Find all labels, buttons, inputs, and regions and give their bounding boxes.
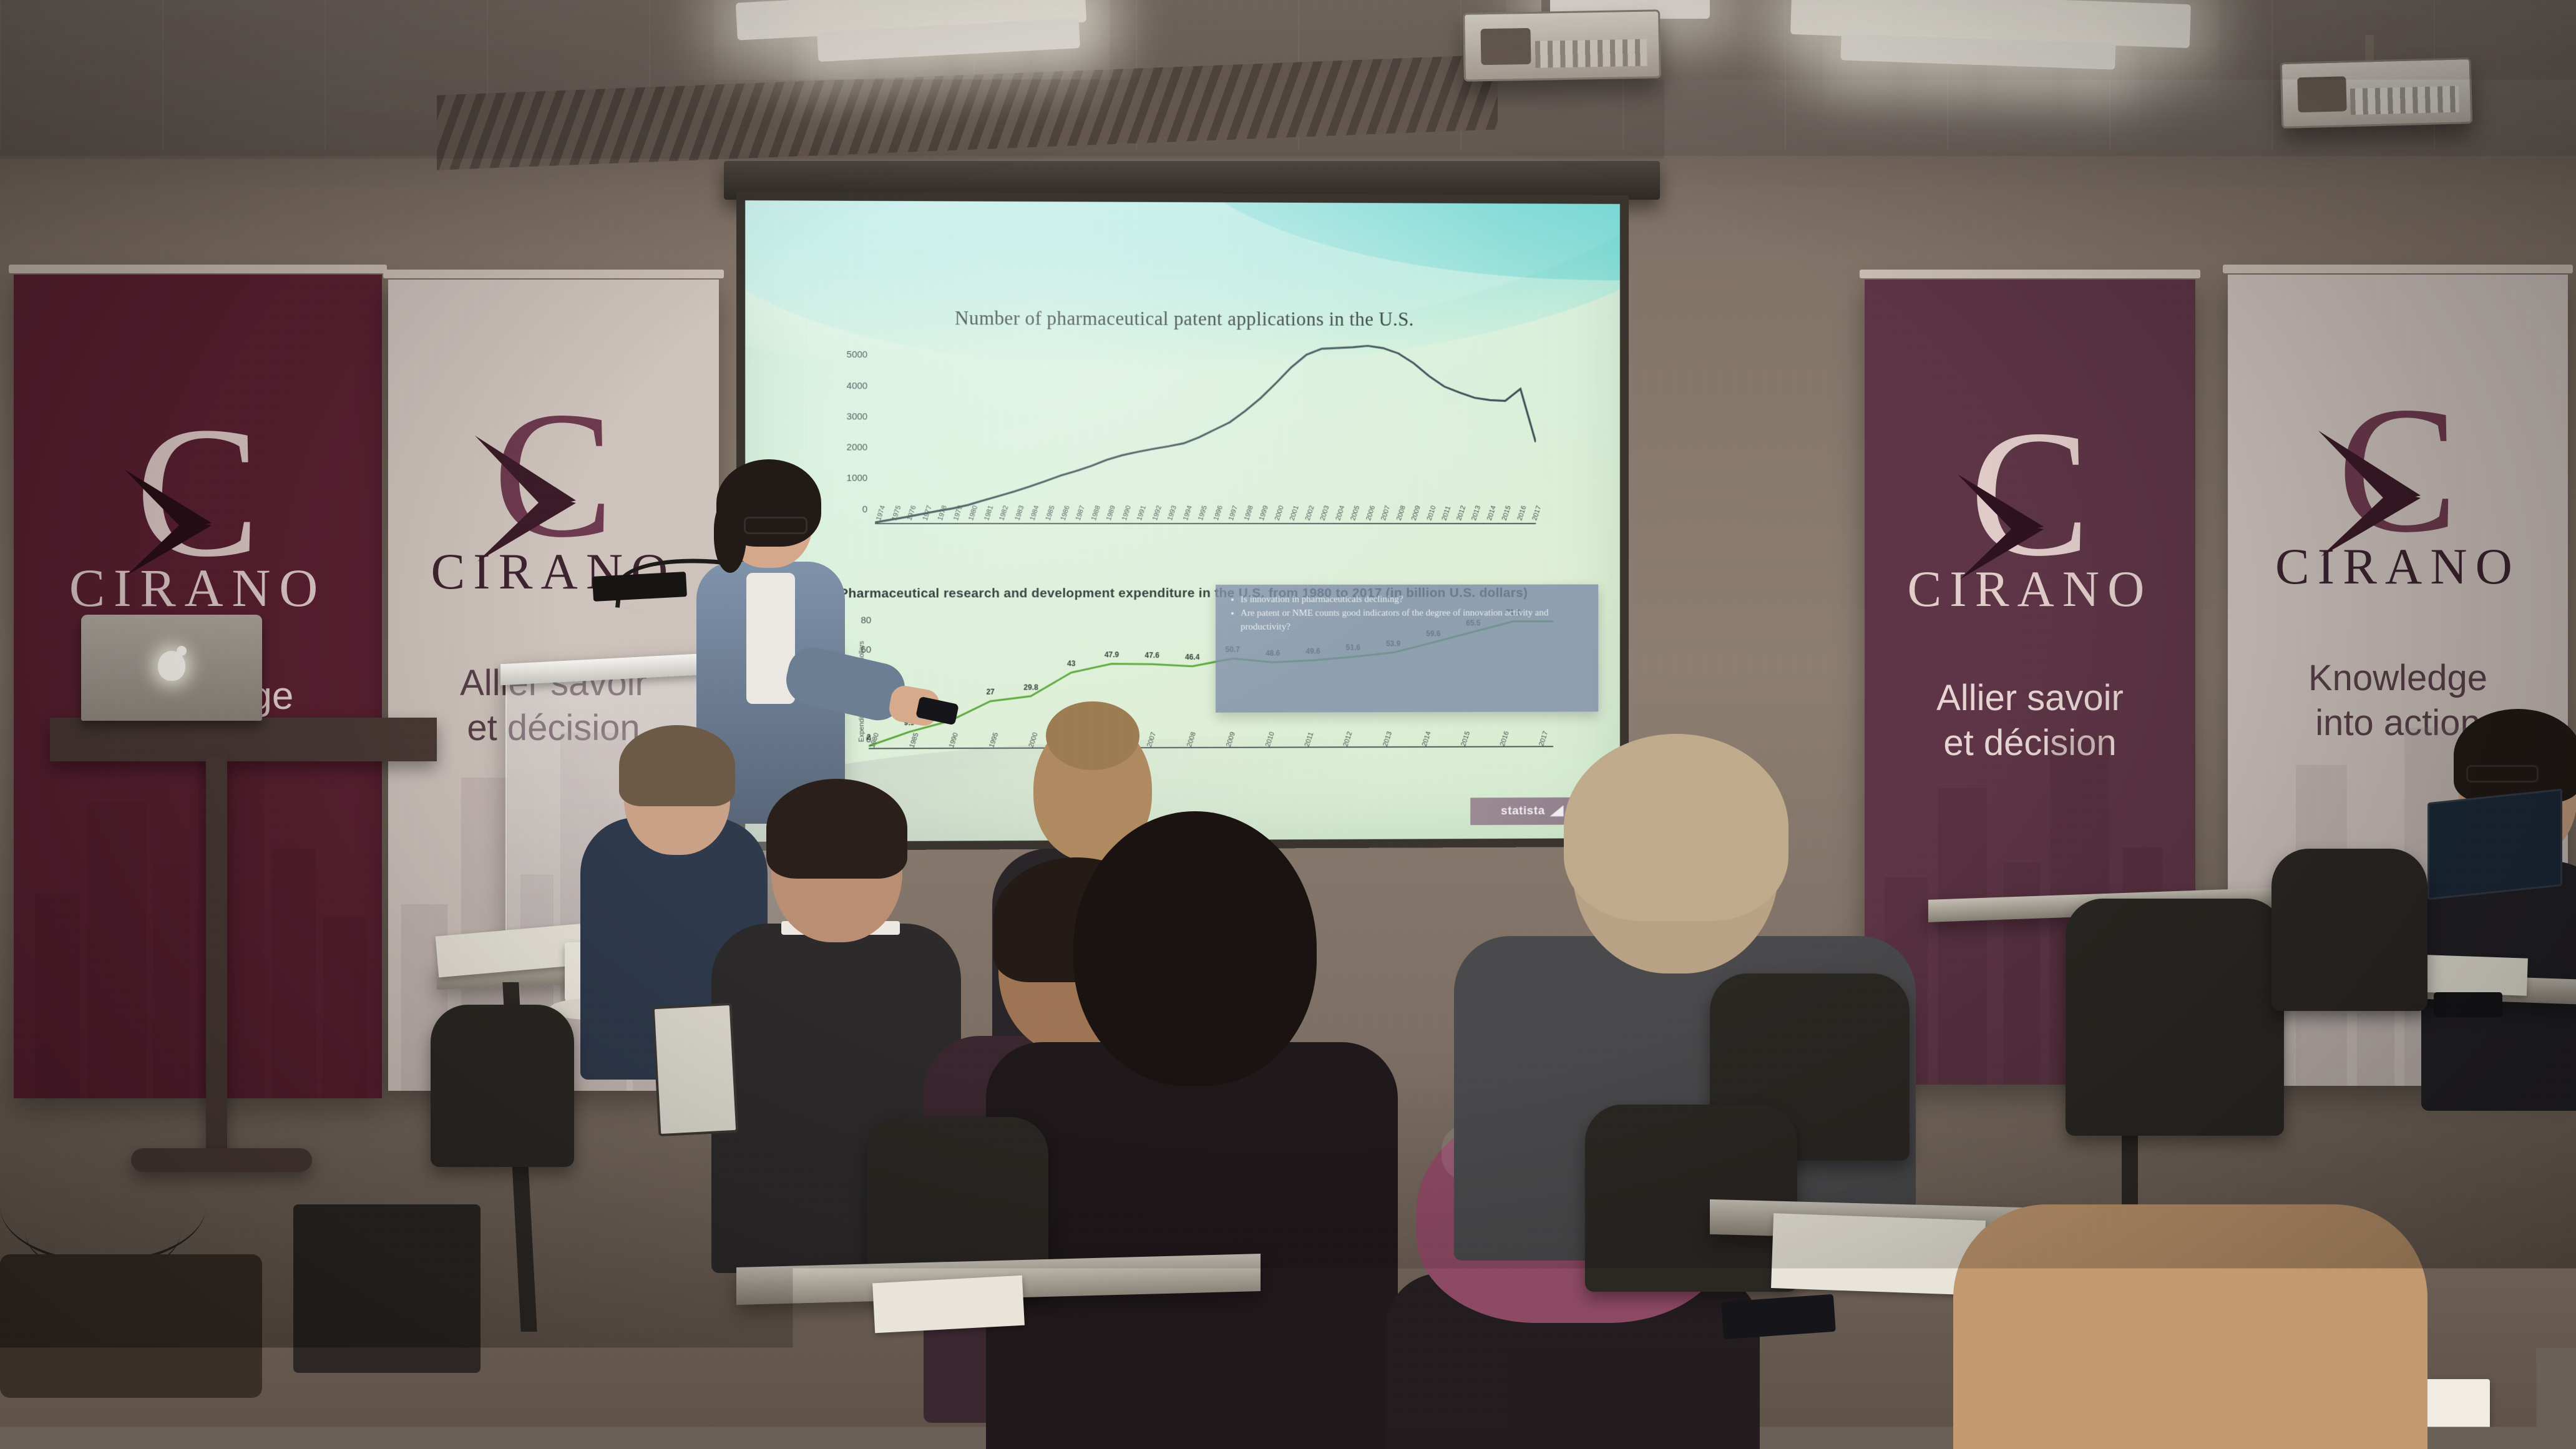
presenter-laptop: [81, 615, 262, 721]
projector-lens: [2297, 76, 2346, 112]
document-paper: [872, 1276, 1025, 1333]
eyeglasses-icon: [744, 517, 807, 534]
y-tick-label: 3000: [847, 411, 868, 422]
cirano-c-logo: C: [2228, 387, 2568, 554]
audience-hair: [1564, 734, 1788, 921]
chair: [431, 1005, 574, 1167]
skyline-graphic: [14, 720, 382, 1098]
data-point-label: 46.4: [1185, 653, 1199, 661]
chair: [2271, 849, 2427, 1011]
cirano-c-logo: C: [14, 406, 382, 578]
y-tick-label: 4000: [847, 380, 868, 391]
data-point-label: 29.8: [1023, 683, 1038, 691]
y-tick-label: 0: [862, 504, 867, 514]
data-point-label: 43: [1067, 659, 1075, 668]
smartphone: [1721, 1294, 1836, 1339]
audience-torso: [1953, 1204, 2427, 1449]
chart1-line-series: [875, 335, 1536, 524]
data-point-label: 27: [986, 688, 994, 696]
cirano-c-logo: C: [388, 392, 719, 559]
floor-bag: [0, 1254, 262, 1398]
banner-tagline-line1: Knowledge: [2228, 656, 2568, 701]
eyeglasses-icon: [2466, 765, 2539, 783]
slide-callout-box: Is innovation in pharmaceuticals declini…: [1216, 585, 1598, 713]
audience-head: [1073, 811, 1317, 1086]
callout-bullet: Are patent or NME counts good indicators…: [1241, 607, 1587, 634]
microphone-base: [592, 572, 687, 602]
chart1-plot: 010002000300040005000 197419751976197719…: [825, 335, 1542, 549]
banner-rail: [1860, 270, 2200, 278]
ceiling-projector-icon: [1463, 9, 1661, 81]
side-table-stem: [206, 755, 227, 1154]
chart1-title: Number of pharmaceutical patent applicat…: [745, 306, 1620, 331]
audience-member-foreground: [986, 793, 1398, 1449]
smartphone: [2434, 992, 2502, 1017]
equipment-case: [293, 1204, 481, 1373]
chart1-plot-area: [875, 335, 1536, 524]
conference-room-photo: C CIRANO Knowledge into action C: [0, 0, 2576, 1449]
callout-bullet: Is innovation in pharmaceuticals declini…: [1241, 593, 1587, 607]
chair: [2066, 899, 2284, 1136]
projector-lens: [1480, 28, 1531, 66]
data-point-label: 47.9: [1105, 650, 1119, 659]
y-tick-label: 1000: [847, 472, 868, 483]
chart1-x-labels: 1974197519761977197819791980198119821983…: [875, 519, 1536, 554]
audience-hair-bun: [1046, 701, 1139, 770]
projector-ports: [1534, 39, 1647, 68]
audience-member-foreground: [1953, 1179, 2427, 1449]
attendee-laptop: [2427, 789, 2562, 900]
banner-rail: [9, 265, 387, 273]
projector-ports: [2350, 86, 2459, 115]
banner-rail: [2223, 265, 2573, 273]
chair: [1585, 1105, 1797, 1292]
y-tick-label: 2000: [847, 442, 868, 452]
banner-rail: [383, 270, 724, 278]
side-table: [50, 718, 437, 761]
audience-hair: [766, 779, 907, 879]
y-tick-label: 5000: [847, 349, 868, 360]
cirano-c-logo: C: [1865, 411, 2195, 577]
chart-patent-applications: Number of pharmaceutical patent applicat…: [745, 306, 1620, 588]
audience-member: [2434, 705, 2576, 1092]
tablet-device: [652, 1003, 739, 1136]
data-point-label: 47.6: [1144, 651, 1159, 660]
presenter-hair: [714, 500, 746, 573]
apple-logo-icon: [158, 651, 185, 681]
ceiling-projector-icon: [2280, 57, 2473, 129]
